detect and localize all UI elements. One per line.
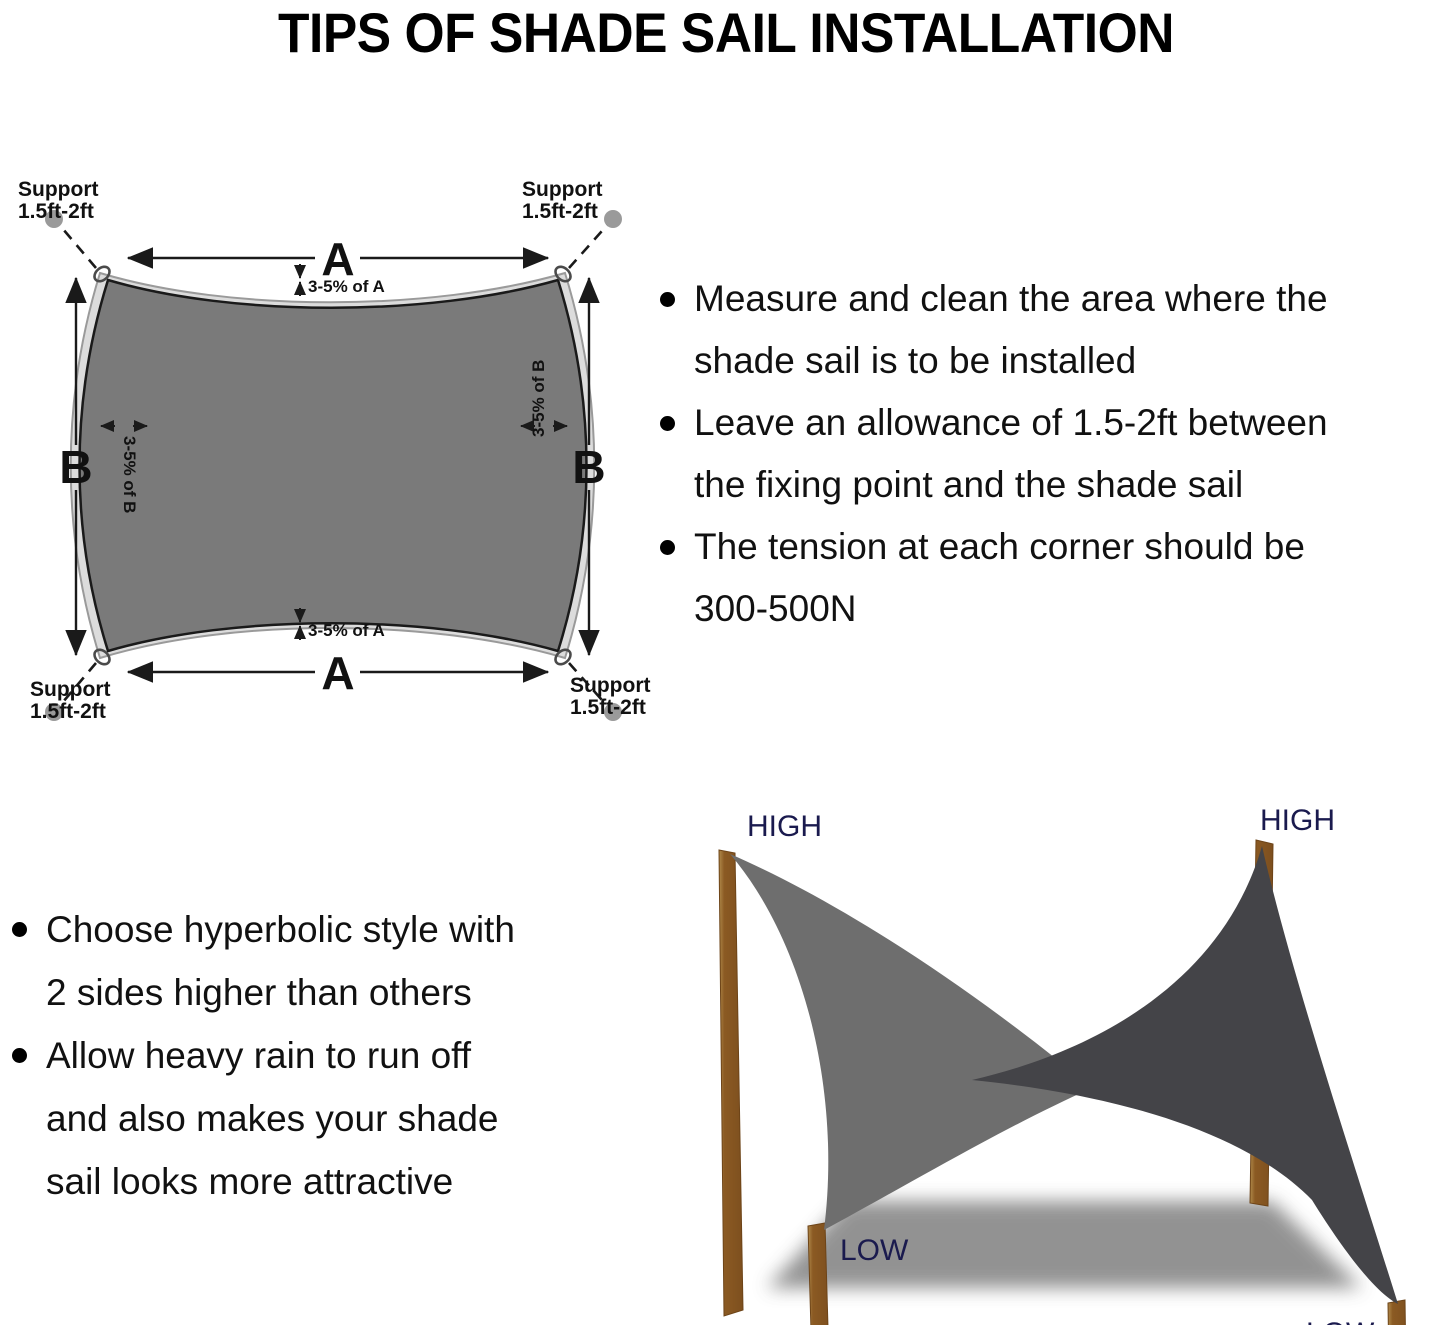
- tip-line: 300-500N: [694, 588, 857, 629]
- tip-line: and also makes your shade: [46, 1098, 499, 1139]
- tip-line: the fixing point and the shade sail: [694, 464, 1243, 505]
- label-low-front-left: LOW: [840, 1234, 909, 1267]
- tip-item-tension: The tension at each corner should be 300…: [648, 516, 1452, 640]
- support-label-top-left-line2: 1.5ft-2ft: [18, 200, 94, 223]
- tip-line: Allow heavy rain to run off: [46, 1035, 471, 1076]
- tie-line-top-right: [569, 222, 610, 268]
- curve-depth-label-bottom: 3-5% of A: [308, 621, 385, 640]
- page-title: TIPS OF SHADE SAIL INSTALLATION: [58, 2, 1394, 64]
- tip-item-measure-clean: Measure and clean the area where the sha…: [648, 268, 1452, 392]
- tip-line: Leave an allowance of 1.5-2ft between: [694, 402, 1328, 443]
- post-back-left: [719, 850, 743, 1316]
- shade-sail-body: [80, 280, 587, 651]
- hyperbolic-sail-diagram: HIGH HIGH LOW LOW: [672, 788, 1452, 1325]
- tip-line: 2 sides higher than others: [46, 972, 472, 1013]
- tie-line-top-left: [57, 222, 96, 268]
- label-low-front-right: LOW: [1306, 1317, 1375, 1325]
- dimension-label-bottom-a: A: [321, 647, 354, 699]
- tip-line: shade sail is to be installed: [694, 340, 1136, 381]
- curve-depth-label-top: 3-5% of A: [308, 277, 385, 296]
- support-label-top-right-line1: Support: [522, 178, 602, 201]
- tip-line: Measure and clean the area where the: [694, 278, 1328, 319]
- curve-depth-label-left: 3-5% of B: [120, 436, 139, 513]
- tip-item-allowance: Leave an allowance of 1.5-2ft between th…: [648, 392, 1452, 516]
- label-high-back-right: HIGH: [1260, 804, 1335, 837]
- support-label-top-left-line1: Support: [18, 178, 98, 201]
- anchor-dot-top-right: [604, 210, 622, 228]
- dimension-label-left-b: B: [59, 441, 92, 493]
- tip-line: Choose hyperbolic style with: [46, 909, 515, 950]
- tip-item-rain-runoff: Allow heavy rain to run off and also mak…: [0, 1024, 640, 1213]
- tip-item-hyperbolic-style: Choose hyperbolic style with 2 sides hig…: [0, 898, 640, 1024]
- tip-line: The tension at each corner should be: [694, 526, 1305, 567]
- support-label-bottom-right-line2: 1.5ft-2ft: [570, 696, 646, 719]
- dimension-label-right-b: B: [572, 441, 605, 493]
- hyperbolic-style-tips-list: Choose hyperbolic style with 2 sides hig…: [0, 898, 640, 1213]
- tip-line: sail looks more attractive: [46, 1161, 453, 1202]
- post-front-right: [1388, 1300, 1409, 1325]
- curve-depth-label-right: 3-5% of B: [529, 360, 548, 437]
- label-high-back-left: HIGH: [747, 810, 822, 843]
- support-label-top-right-line2: 1.5ft-2ft: [522, 200, 598, 223]
- support-label-bottom-left-line2: 1.5ft-2ft: [30, 700, 106, 723]
- rectangular-sail-diagram: Support 1.5ft-2ft Support 1.5ft-2ft Supp…: [0, 160, 660, 740]
- installation-tips-list: Measure and clean the area where the sha…: [648, 268, 1452, 640]
- support-label-bottom-left-line1: Support: [30, 678, 110, 701]
- support-label-bottom-right-line1: Support: [570, 674, 650, 697]
